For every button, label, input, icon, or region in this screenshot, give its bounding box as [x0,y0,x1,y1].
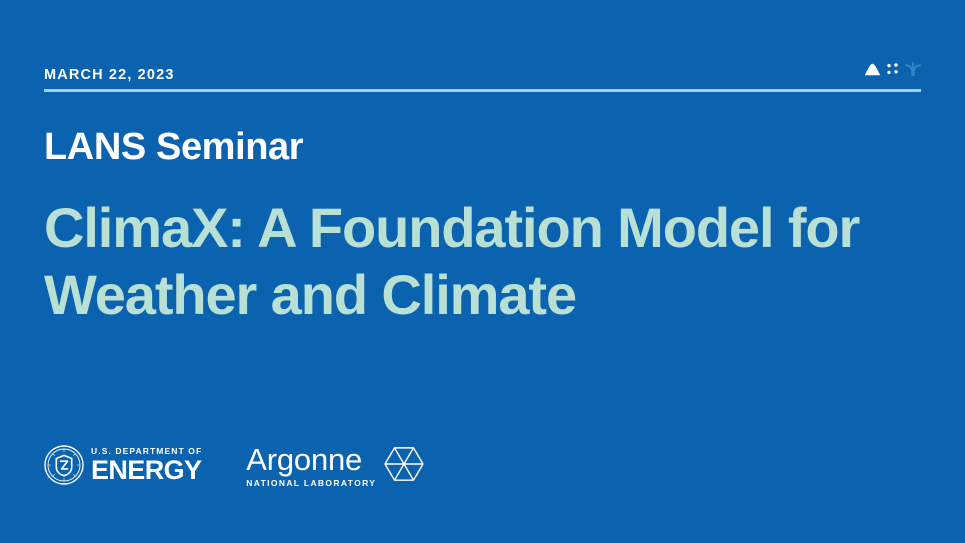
doe-seal-icon [44,445,84,485]
doe-energy-text: ENERGY [91,458,202,483]
doe-logo: U.S. DEPARTMENT OF ENERGY [44,445,202,485]
argonne-name-text: Argonne [246,444,377,475]
logo-bar: U.S. DEPARTMENT OF ENERGY Argonne NATION… [44,440,425,490]
argonne-hexagon-icon [383,445,425,483]
logo-spacer [224,442,225,488]
header-brand-mark [864,62,921,82]
argonne-wordmark: Argonne NATIONAL LABORATORY [246,442,377,488]
doe-wordmark: U.S. DEPARTMENT OF ENERGY [91,447,202,482]
triangle-icon [864,63,881,81]
slide-header: MARCH 22, 2023 [44,58,921,94]
header-divider-rule [44,89,921,92]
dots-icon [886,63,900,81]
presentation-slide: MARCH 22, 2023 [0,0,965,543]
argonne-logo: Argonne NATIONAL LABORATORY [246,442,425,488]
argonne-sub-text: NATIONAL LABORATORY [246,479,377,488]
header-row: MARCH 22, 2023 [44,58,921,82]
slide-title: ClimaX: A Foundation Model for Weather a… [44,195,944,328]
seminar-series-label: LANS Seminar [44,128,303,168]
slide-date: MARCH 22, 2023 [44,68,175,83]
antenna-icon [905,62,921,81]
